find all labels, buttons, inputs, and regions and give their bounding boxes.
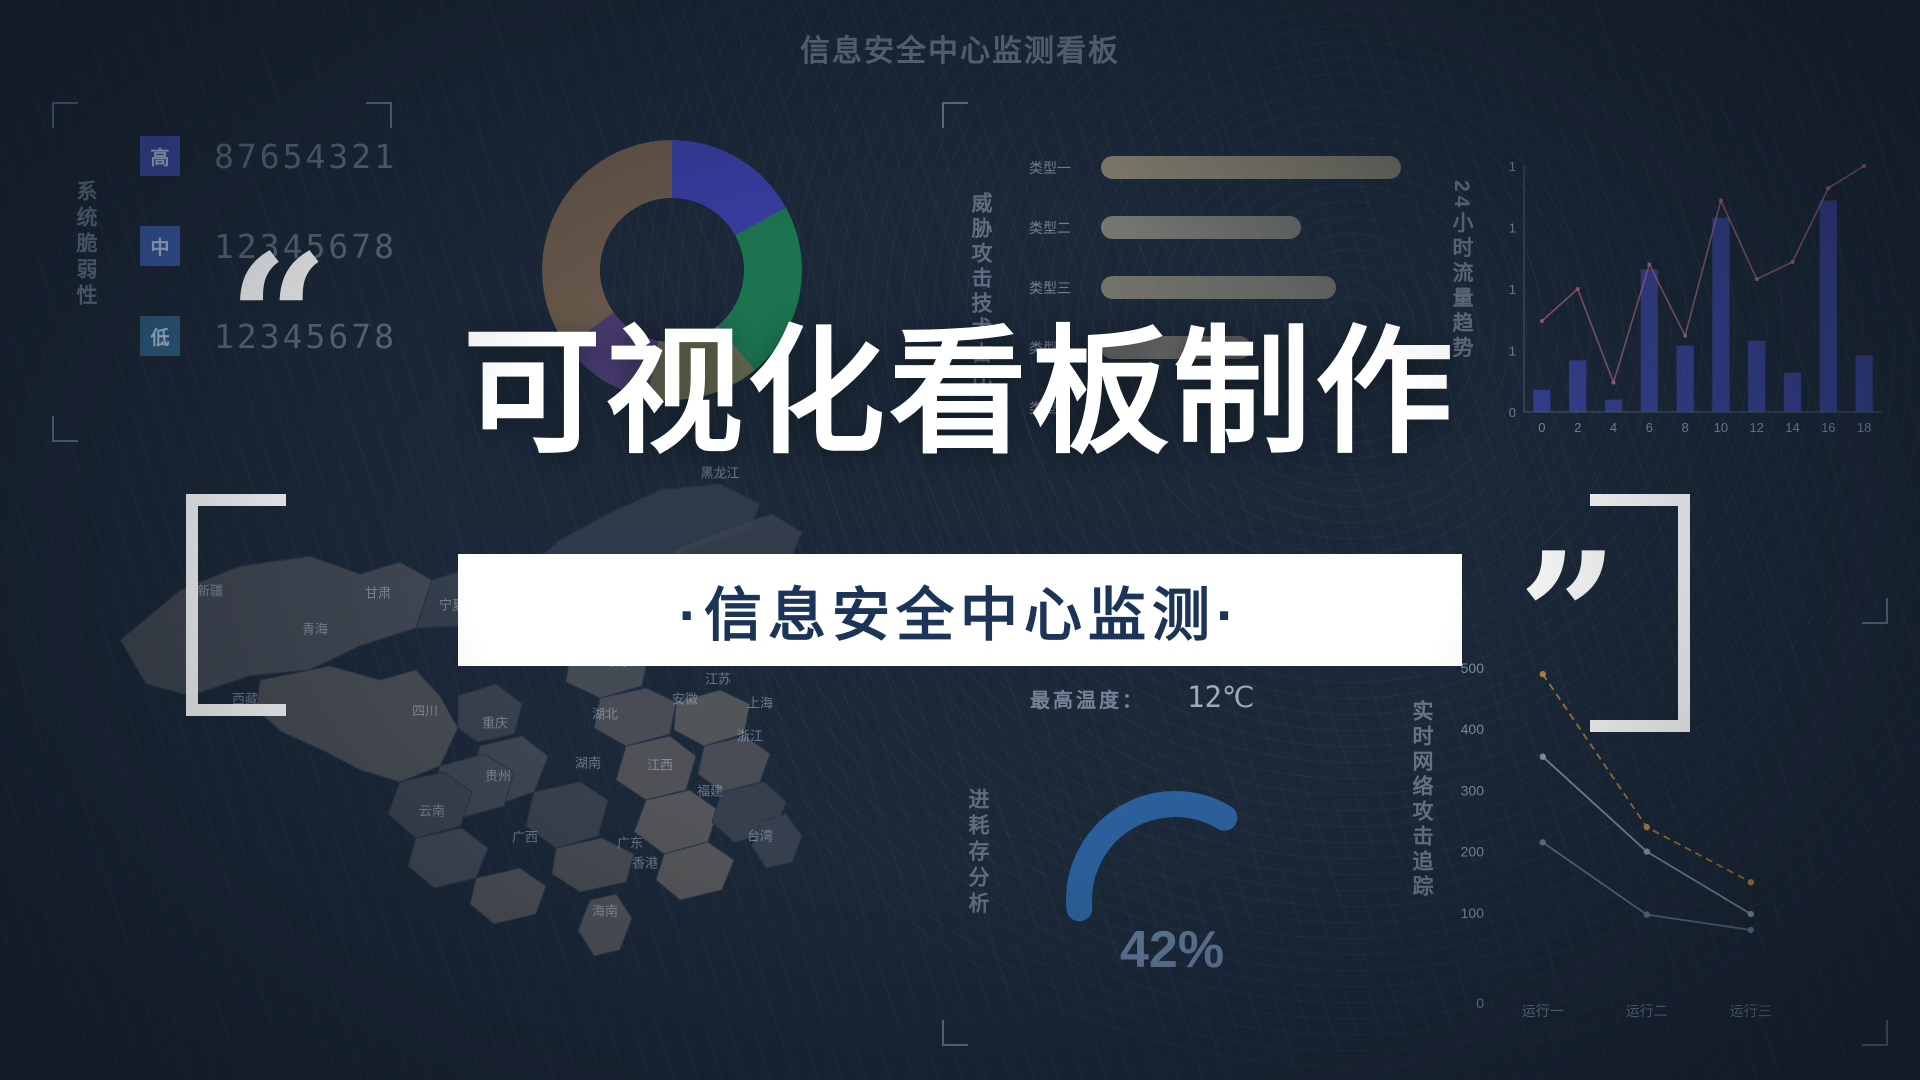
map-label-香港: 香港 — [632, 853, 658, 872]
svg-text:运行三: 运行三 — [1730, 1003, 1772, 1019]
svg-text:500: 500 — [1461, 660, 1485, 676]
vulnerability-badge-medium: 中 — [140, 226, 180, 266]
hero-main-title: 可视化看板制作 — [0, 280, 1920, 480]
inventory-gauge-panel-title: 进耗存分析 — [962, 788, 992, 918]
svg-text:1: 1 — [1509, 221, 1516, 236]
map-label-安徽: 安徽 — [672, 689, 698, 708]
threat-bar-label-2: 类型二 — [1029, 218, 1087, 238]
max-temperature-readout: 最高温度： 12℃ — [1030, 680, 1255, 714]
map-label-广东: 广东 — [617, 833, 643, 852]
vulnerability-value-high: 87654321 — [214, 137, 397, 176]
vulnerability-row-high: 高 87654321 — [140, 136, 397, 176]
svg-text:运行二: 运行二 — [1626, 1003, 1668, 1019]
threat-bar-track-1 — [1101, 156, 1401, 179]
map-label-云南: 云南 — [419, 801, 445, 820]
hero-subtitle-text: ·信息安全中心监测· — [679, 568, 1242, 652]
frame-bracket-right — [1862, 598, 1888, 624]
decor-bracket-left — [186, 494, 288, 716]
map-label-贵州: 贵州 — [485, 766, 511, 785]
svg-text:100: 100 — [1461, 905, 1485, 921]
svg-text:300: 300 — [1461, 782, 1485, 798]
map-label-海南: 海南 — [592, 901, 618, 920]
max-temperature-value: 12℃ — [1187, 680, 1255, 714]
map-label-上海: 上海 — [747, 693, 773, 712]
vulnerability-badge-high: 高 — [140, 136, 180, 176]
threat-bar-row-1: 类型一 — [1029, 156, 1401, 179]
svg-text:0: 0 — [1476, 995, 1484, 1011]
inventory-gauge-percent: 42% — [1120, 920, 1224, 980]
hero-subtitle-ribbon: ·信息安全中心监测· — [458, 554, 1462, 666]
threat-bar-track-2 — [1101, 216, 1301, 239]
map-label-湖北: 湖北 — [592, 704, 618, 723]
dashboard-cover: 信息安全中心监测看板 系统脆弱性 高 87654321 中 12345678 低… — [0, 0, 1920, 1080]
threat-bar-row-2: 类型二 — [1029, 216, 1301, 239]
svg-text:400: 400 — [1461, 721, 1485, 737]
inventory-gauge-panel: 进耗存分析 42% — [960, 770, 1320, 1030]
map-label-四川: 四川 — [412, 701, 438, 720]
max-temperature-label: 最高温度： — [1030, 684, 1145, 713]
threat-bar-label-1: 类型一 — [1029, 158, 1087, 178]
svg-text:1: 1 — [1509, 159, 1516, 174]
page-title: 信息安全中心监测看板 — [0, 26, 1920, 70]
map-label-台湾: 台湾 — [747, 826, 773, 845]
map-label-江苏: 江苏 — [705, 669, 731, 688]
map-label-重庆: 重庆 — [482, 713, 508, 732]
svg-text:200: 200 — [1461, 844, 1485, 860]
map-label-青海: 青海 — [302, 619, 328, 638]
map-label-浙江: 浙江 — [737, 726, 763, 745]
map-label-广西: 广西 — [512, 827, 538, 846]
svg-text:运行一: 运行一 — [1522, 1003, 1564, 1019]
quote-close-mark: ” — [1518, 530, 1619, 705]
map-label-甘肃: 甘肃 — [365, 583, 391, 602]
map-label-福建: 福建 — [697, 781, 723, 800]
inventory-gauge-arc — [960, 770, 1320, 1030]
map-label-湖南: 湖南 — [575, 753, 601, 772]
map-label-江西: 江西 — [647, 755, 673, 774]
frame-bracket-center-top — [942, 102, 968, 128]
